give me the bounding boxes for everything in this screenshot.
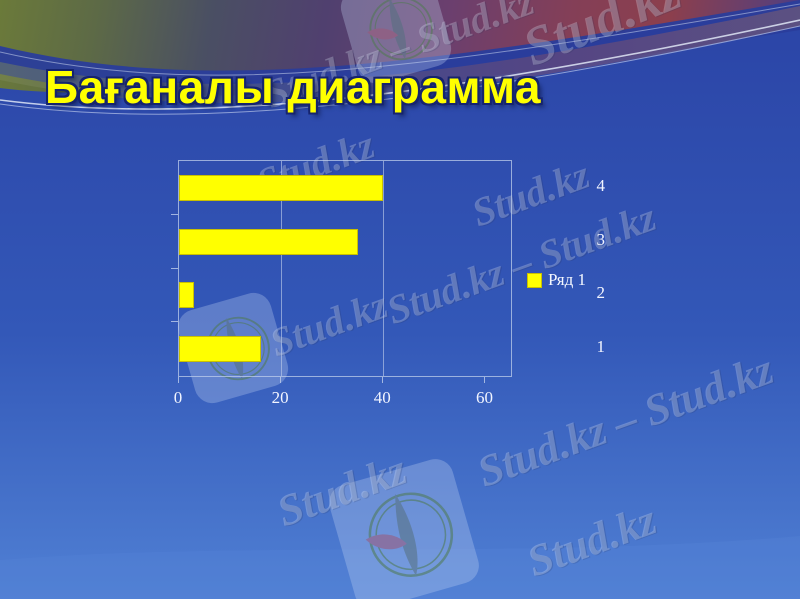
x-axis-tick-mark [484,377,485,383]
bar-category-4[interactable] [179,175,383,201]
x-axis-tick-mark [280,377,281,383]
legend-entry-label: Ряд 1 [548,270,586,290]
y-axis-tick-label: 3 [571,230,605,250]
chart-legend[interactable]: Ряд 1 [527,270,586,290]
bar-category-2[interactable] [179,282,194,308]
presentation-slide: Stud.kz Stud.kz – Stud.kz Stud.kz Stud.k… [0,0,800,599]
x-axis-tick-label: 60 [476,388,493,408]
plot-area [178,160,512,377]
y-axis-tick-label: 1 [571,337,605,357]
y-axis-tick-label: 4 [571,176,605,196]
legend-color-swatch-icon [527,273,542,288]
x-axis-tick-mark [178,377,179,383]
gridline-40 [383,161,384,376]
bar-category-3[interactable] [179,229,358,255]
y-axis-tick-mark [171,321,178,322]
bar-category-1[interactable] [179,336,261,362]
x-axis-tick-label: 40 [374,388,391,408]
x-axis-tick-label: 0 [174,388,183,408]
bar-chart: 4 3 2 1 0 20 40 60 Ряд 1 [135,150,605,420]
y-axis-tick-mark [171,214,178,215]
slide-title: Бағаналы диаграмма [45,60,541,114]
x-axis-tick-mark [382,377,383,383]
x-axis-tick-label: 20 [272,388,289,408]
y-axis-tick-mark [171,268,178,269]
